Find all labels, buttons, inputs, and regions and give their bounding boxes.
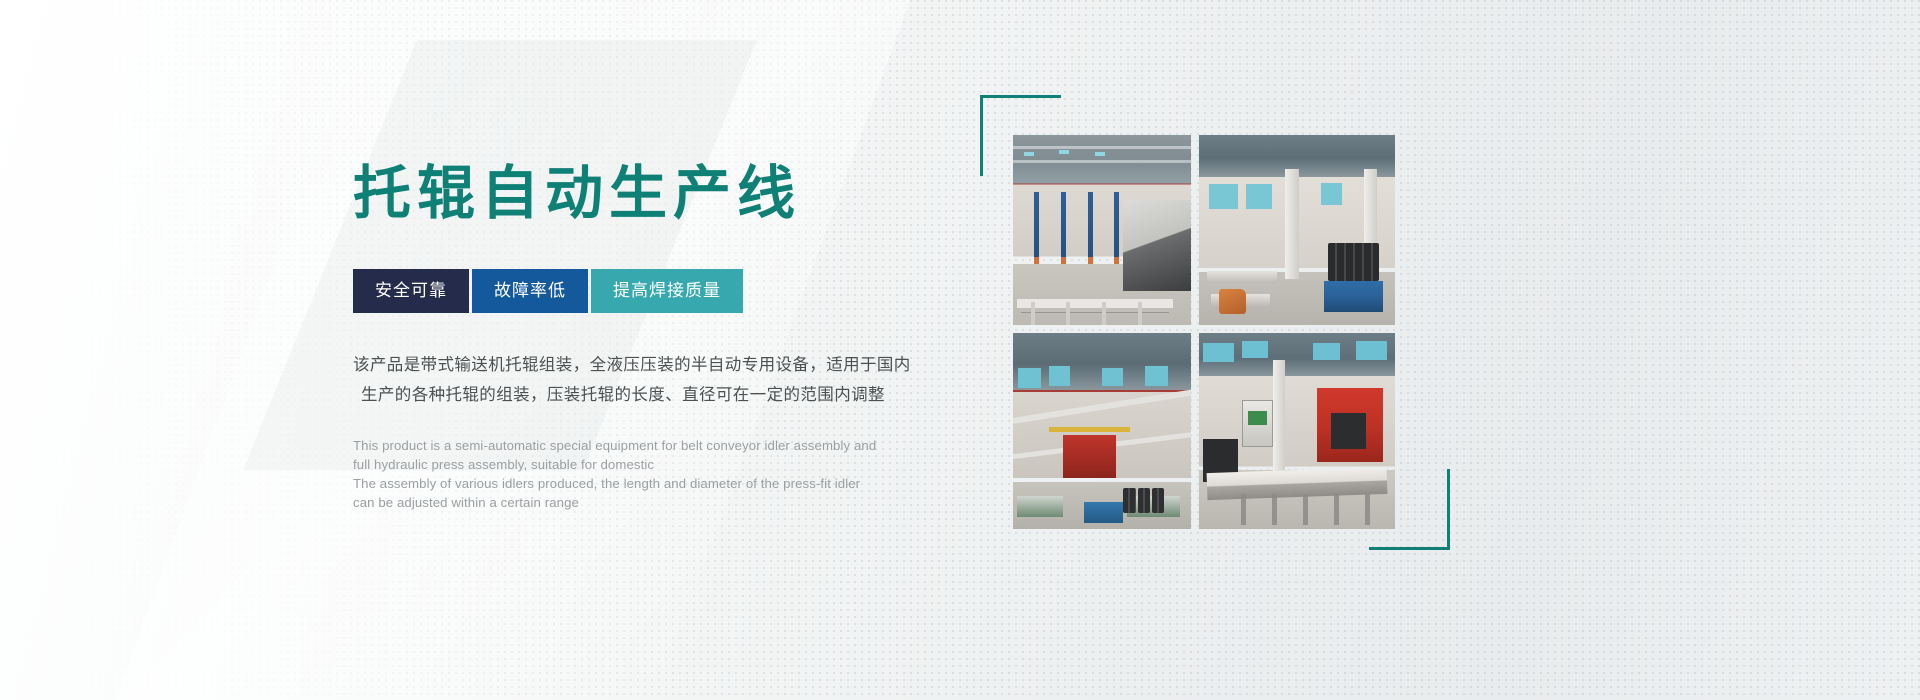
badge-improved-weld-quality[interactable]: 提高焊接质量 xyxy=(591,269,743,313)
description-cn-line-2: 生产的各种托辊的组装，压装托辊的长度、直径可在一定的范围内调整 xyxy=(353,380,973,410)
banner-text-column: 托辊自动生产线 安全可靠 故障率低 提高焊接质量 该产品是带式输送机托辊组装，全… xyxy=(353,165,973,512)
badge-safe-reliable[interactable]: 安全可靠 xyxy=(353,269,469,313)
description-cn-line-1: 该产品是带式输送机托辊组装，全液压压装的半自动专用设备，适用于国内 xyxy=(353,350,973,380)
photo-workshop-benches[interactable] xyxy=(1199,135,1395,325)
description-en-line-3: The assembly of various idlers produced,… xyxy=(353,474,973,493)
badge-low-failure-rate[interactable]: 故障率低 xyxy=(472,269,588,313)
photo-assembly-hall[interactable] xyxy=(1013,333,1191,529)
description-en-line-1: This product is a semi-automatic special… xyxy=(353,436,973,455)
product-banner: 托辊自动生产线 安全可靠 故障率低 提高焊接质量 该产品是带式输送机托辊组装，全… xyxy=(0,0,1920,700)
description-en-line-4: can be adjusted within a certain range xyxy=(353,493,973,512)
photo-conveyor-line[interactable] xyxy=(1013,135,1191,325)
description-chinese: 该产品是带式输送机托辊组装，全液压压装的半自动专用设备，适用于国内 生产的各种托… xyxy=(353,350,973,410)
description-english: This product is a semi-automatic special… xyxy=(353,436,973,512)
feature-badge-row: 安全可靠 故障率低 提高焊接质量 xyxy=(353,269,973,313)
photo-gallery xyxy=(980,95,1450,550)
page-title: 托辊自动生产线 xyxy=(353,165,973,223)
photo-grid xyxy=(1013,135,1413,535)
description-en-line-2: full hydraulic press assembly, suitable … xyxy=(353,455,973,474)
photo-red-press-machine[interactable] xyxy=(1199,333,1395,529)
